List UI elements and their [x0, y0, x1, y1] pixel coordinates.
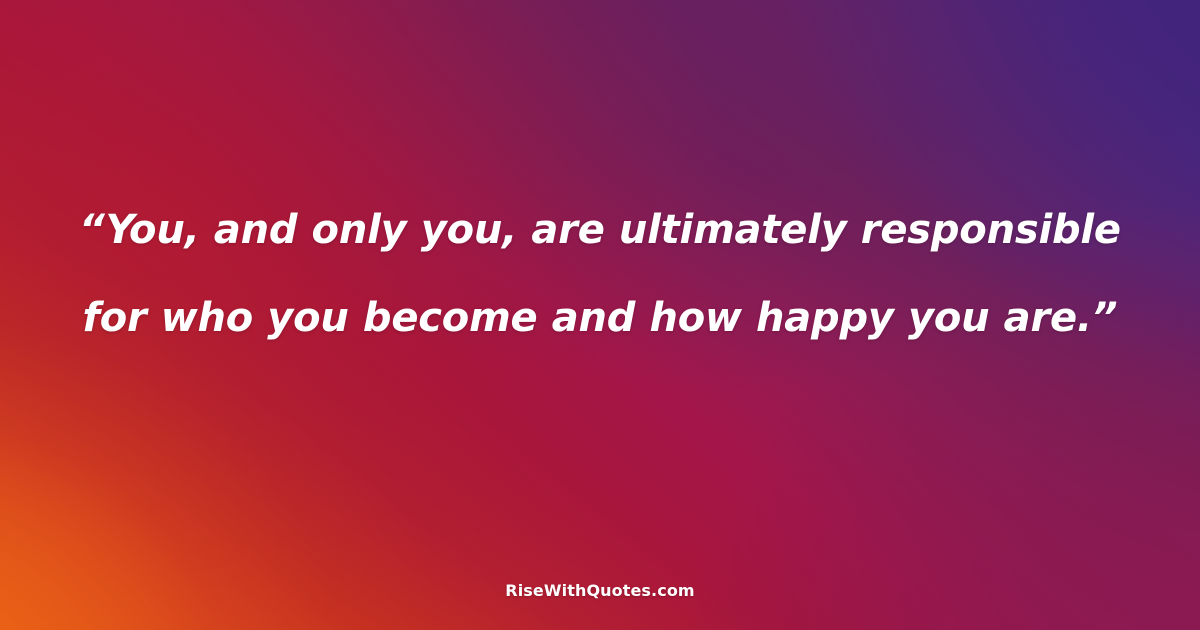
- card-content: “You, and only you, are ultimately respo…: [0, 0, 1200, 630]
- site-credit: RiseWithQuotes.com: [0, 581, 1200, 600]
- quote-card: “You, and only you, are ultimately respo…: [0, 0, 1200, 630]
- quote-text: “You, and only you, are ultimately respo…: [60, 186, 1140, 362]
